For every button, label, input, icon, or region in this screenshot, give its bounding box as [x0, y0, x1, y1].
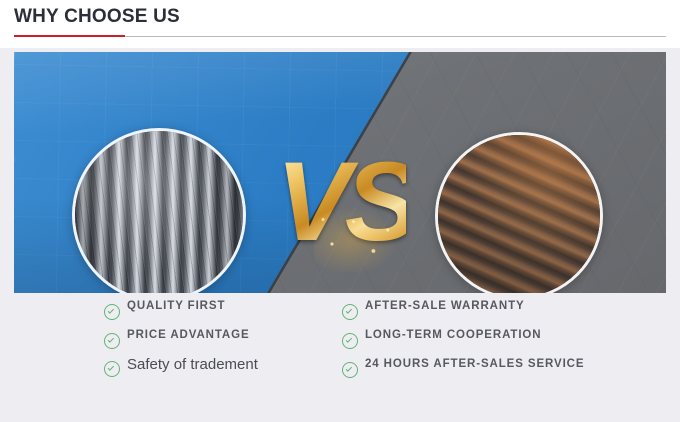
vs-badge: VS: [276, 147, 406, 267]
page-title: WHY CHOOSE US: [14, 6, 180, 28]
comparison-panel: VS OUR PRODUCTS OTHER PRODUCTS: [14, 52, 666, 293]
check-circle-icon: [104, 361, 120, 377]
feature-list: QUALITY FIRST PRICE ADVANTAGE Safety of …: [0, 300, 680, 400]
why-choose-us-section: WHY CHOOSE US VS OUR PRODUCTS OTHER PROD…: [0, 0, 680, 422]
list-item-label: QUALITY FIRST: [127, 300, 225, 312]
check-circle-icon: [342, 362, 358, 378]
list-item-label: 24 HOURS AFTER-SALES SERVICE: [365, 358, 584, 370]
rust-tone-overlay: [438, 135, 600, 293]
clean-rebar-photo: [75, 131, 243, 293]
list-item-label: PRICE ADVANTAGE: [127, 329, 250, 341]
list-item-label: Safety of tradement: [127, 356, 258, 373]
list-item-label: LONG-TERM COOPERATION: [365, 329, 542, 341]
check-circle-icon: [342, 333, 358, 349]
check-circle-icon: [104, 333, 120, 349]
check-circle-icon: [342, 304, 358, 320]
rebar-shading: [75, 131, 243, 293]
our-products-image: [72, 128, 246, 293]
list-item-label: AFTER-SALE WARRANTY: [365, 300, 525, 312]
rusty-rebar-photo: [438, 135, 600, 293]
header-accent-underline: [14, 35, 125, 37]
check-circle-icon: [104, 304, 120, 320]
other-products-image: [435, 132, 603, 293]
section-header: WHY CHOOSE US: [0, 0, 680, 48]
